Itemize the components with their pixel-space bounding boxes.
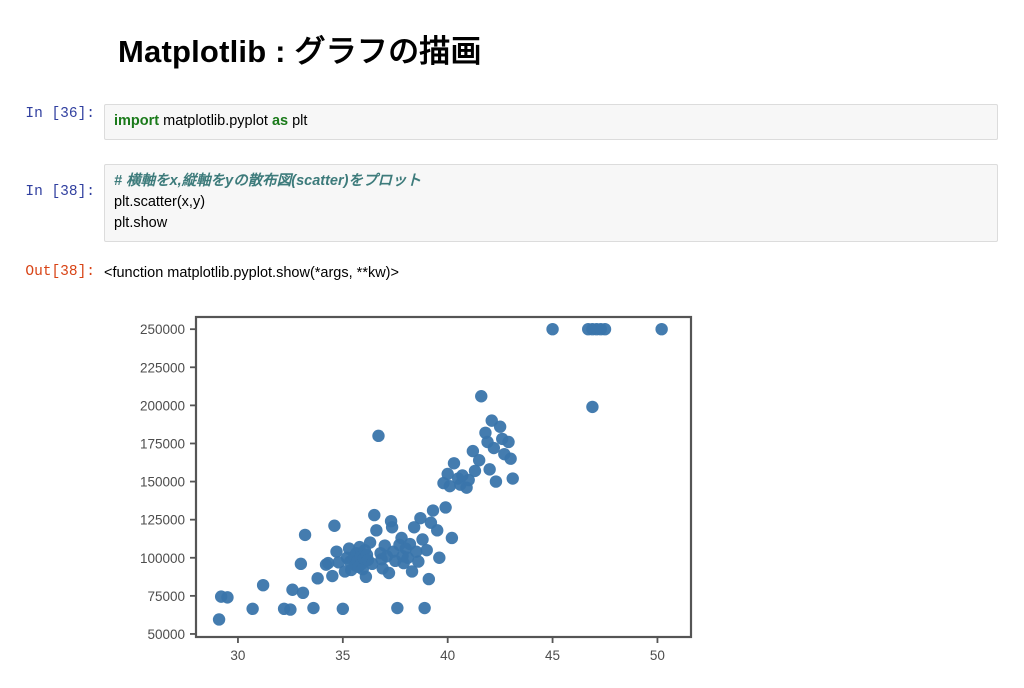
scatter-point xyxy=(507,472,519,484)
scatter-point xyxy=(504,453,516,465)
y-tick-label: 250000 xyxy=(140,322,185,337)
code-alias: plt xyxy=(288,113,307,129)
scatter-point xyxy=(418,602,430,614)
scatter-point xyxy=(284,603,296,615)
scatter-point xyxy=(372,430,384,442)
scatter-point xyxy=(490,475,502,487)
scatter-point xyxy=(221,591,233,603)
x-tick-label: 40 xyxy=(440,648,455,663)
y-tick-label: 125000 xyxy=(140,513,185,528)
scatter-point xyxy=(364,536,376,548)
input-prompt-36: In [36]: xyxy=(0,104,104,124)
scatter-point xyxy=(423,573,435,585)
y-tick-label: 200000 xyxy=(140,398,185,413)
code-editor-scatter[interactable]: # 横軸をx,縦軸をyの散布図(scatter)をプロット plt.scatte… xyxy=(104,164,998,242)
scatter-point xyxy=(433,552,445,564)
scatter-plot-svg: 5000075000100000125000150000175000200000… xyxy=(110,305,730,675)
scatter-point xyxy=(246,603,258,615)
scatter-points xyxy=(213,323,668,626)
scatter-point xyxy=(546,323,558,335)
scatter-point xyxy=(297,587,309,599)
x-tick-labels: 3035404550 xyxy=(230,648,665,663)
page-title: Matplotlib : グラフの描画 xyxy=(118,26,482,71)
scatter-point xyxy=(299,529,311,541)
notebook-cell-scatter[interactable]: In [38]: # 横軸をx,縦軸をyの散布図(scatter)をプロット p… xyxy=(0,164,998,242)
scatter-point xyxy=(412,555,424,567)
scatter-point xyxy=(475,390,487,402)
keyword-as: as xyxy=(272,113,288,129)
scatter-point xyxy=(337,603,349,615)
y-tick-label: 175000 xyxy=(140,436,185,451)
scatter-point xyxy=(383,567,395,579)
scatter-point xyxy=(326,570,338,582)
scatter-point xyxy=(439,501,451,513)
scatter-point xyxy=(328,520,340,532)
keyword-import: import xyxy=(114,113,159,129)
scatter-point xyxy=(502,436,514,448)
scatter-point xyxy=(368,509,380,521)
input-prompt-38: In [38]: xyxy=(0,164,104,202)
code-comment-line: # 横軸をx,縦軸をyの散布図(scatter)をプロット xyxy=(114,173,421,189)
code-module-path: matplotlib.pyplot xyxy=(159,113,272,129)
scatter-point xyxy=(488,442,500,454)
scatter-point xyxy=(416,533,428,545)
scatter-point xyxy=(213,613,225,625)
x-tick-label: 30 xyxy=(230,648,245,663)
scatter-point xyxy=(286,584,298,596)
scatter-point xyxy=(295,558,307,570)
notebook-output-row: Out[38]: <function matplotlib.pyplot.sho… xyxy=(0,262,399,283)
output-repr-text: <function matplotlib.pyplot.show(*args, … xyxy=(104,262,399,283)
code-line-show-call: plt.show xyxy=(114,215,167,231)
output-prompt-38: Out[38]: xyxy=(0,262,104,282)
scatter-point xyxy=(473,454,485,466)
scatter-point xyxy=(391,602,403,614)
scatter-point xyxy=(427,504,439,516)
y-tick-label: 75000 xyxy=(147,589,185,604)
scatter-point xyxy=(586,401,598,413)
scatter-point xyxy=(330,545,342,557)
x-tick-label: 50 xyxy=(650,648,665,663)
y-tick-labels: 5000075000100000125000150000175000200000… xyxy=(140,322,185,642)
scatter-point xyxy=(360,571,372,583)
scatter-point xyxy=(386,521,398,533)
scatter-point xyxy=(370,524,382,536)
scatter-point xyxy=(494,421,506,433)
y-tick-label: 150000 xyxy=(140,475,185,490)
scatter-point xyxy=(311,572,323,584)
scatter-point xyxy=(431,524,443,536)
scatter-point xyxy=(307,602,319,614)
y-tick-label: 225000 xyxy=(140,360,185,375)
code-editor-import[interactable]: import matplotlib.pyplot as plt xyxy=(104,104,998,140)
x-tick-label: 35 xyxy=(335,648,350,663)
code-line-scatter-call: plt.scatter(x,y) xyxy=(114,194,205,210)
scatter-point xyxy=(655,323,667,335)
y-tick-label: 50000 xyxy=(147,627,185,642)
scatter-point xyxy=(448,457,460,469)
scatter-point xyxy=(421,544,433,556)
scatter-point xyxy=(446,532,458,544)
scatter-point xyxy=(599,323,611,335)
matplotlib-figure: 5000075000100000125000150000175000200000… xyxy=(110,305,730,675)
y-tick-label: 100000 xyxy=(140,551,185,566)
x-tick-label: 45 xyxy=(545,648,560,663)
scatter-point xyxy=(483,463,495,475)
scatter-point xyxy=(469,465,481,477)
notebook-cell-import[interactable]: In [36]: import matplotlib.pyplot as plt xyxy=(0,104,998,140)
scatter-point xyxy=(257,579,269,591)
